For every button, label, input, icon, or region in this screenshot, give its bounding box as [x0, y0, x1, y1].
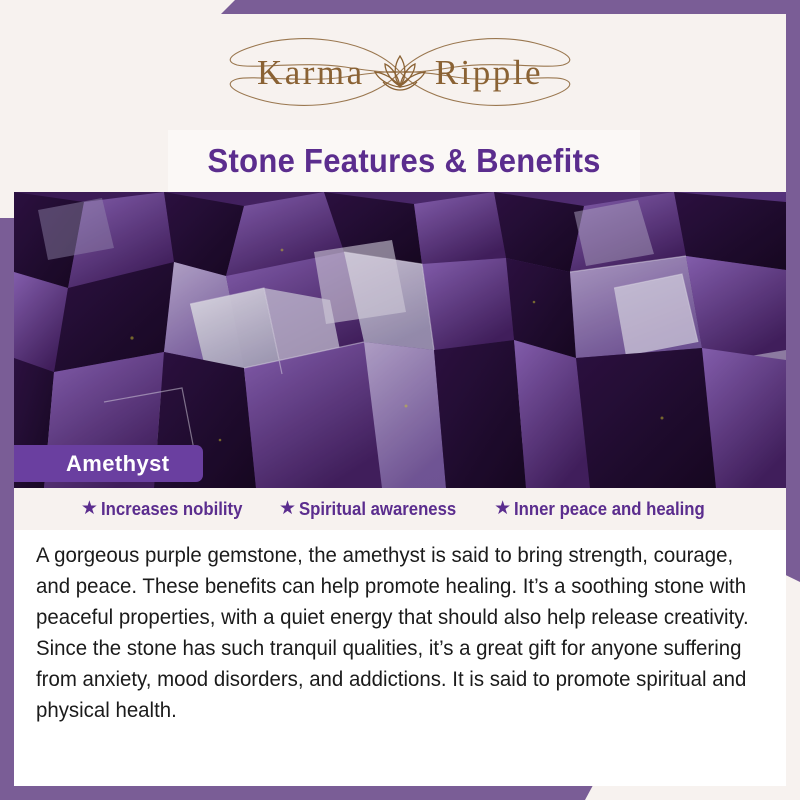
stone-name-badge: Amethyst — [14, 445, 203, 482]
brand-logo: Karma Ripple — [185, 31, 615, 113]
feature-label: Inner peace and healing — [514, 499, 705, 520]
star-icon: ★ — [279, 499, 296, 518]
page-title: Stone Features & Benefits — [207, 142, 600, 180]
feature-item: ★ Spiritual awareness — [279, 499, 468, 520]
lotus-icon — [371, 52, 429, 92]
stone-name-label: Amethyst — [66, 451, 169, 477]
star-icon: ★ — [494, 499, 511, 518]
title-panel: Stone Features & Benefits — [168, 130, 640, 192]
product-info-card: Karma Ripple Stone Features & Benefits — [14, 14, 786, 786]
brand-word-left: Karma — [257, 55, 365, 90]
brand-wordmark: Karma Ripple — [257, 52, 543, 92]
description-paragraph: A gorgeous purple gemstone, the amethyst… — [36, 540, 762, 726]
feature-label: Spiritual awareness — [299, 499, 456, 520]
description-section: A gorgeous purple gemstone, the amethyst… — [14, 530, 786, 726]
brand-word-right: Ripple — [435, 55, 543, 90]
title-band: Stone Features & Benefits — [14, 130, 786, 192]
amethyst-crystals-image — [14, 192, 786, 488]
feature-label: Increases nobility — [101, 499, 242, 520]
feature-item: ★ Inner peace and healing — [494, 499, 719, 520]
features-list: ★ Increases nobility ★ Spiritual awarene… — [14, 488, 786, 530]
brand-header: Karma Ripple — [14, 14, 786, 130]
amethyst-photo: Amethyst — [14, 192, 786, 488]
feature-item: ★ Increases nobility — [81, 499, 253, 520]
star-icon: ★ — [81, 499, 98, 518]
